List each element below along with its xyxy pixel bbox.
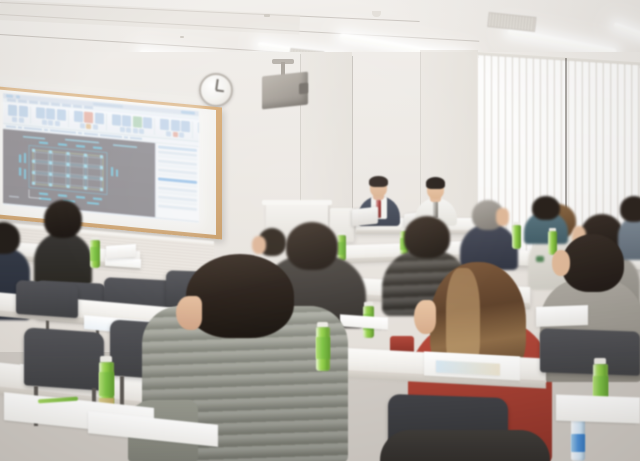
cad-properties-panel[interactable] [155,143,199,221]
cad-drawing-canvas[interactable] [3,129,155,217]
podium-top [262,200,332,205]
projector-lens-icon [299,83,308,95]
wall-seam [420,52,421,228]
handout-paper [556,395,640,424]
name-card-tent [536,305,588,327]
ceiling-fitting [180,36,184,38]
jacket-logo-icon [536,256,544,262]
presenter-tie [433,201,438,218]
projected-screen [3,93,199,223]
stacking-chair[interactable] [24,327,104,391]
stacking-chair[interactable] [16,280,78,318]
ceiling-fitting [264,14,270,17]
presenter-laptop [352,207,378,227]
stacking-chair[interactable] [540,328,640,375]
wall-clock [199,73,233,107]
wall-seam [352,56,353,226]
structural-plan-drawing [3,129,155,217]
name-card-tent [106,244,136,259]
seminar-room-photo [0,0,640,461]
